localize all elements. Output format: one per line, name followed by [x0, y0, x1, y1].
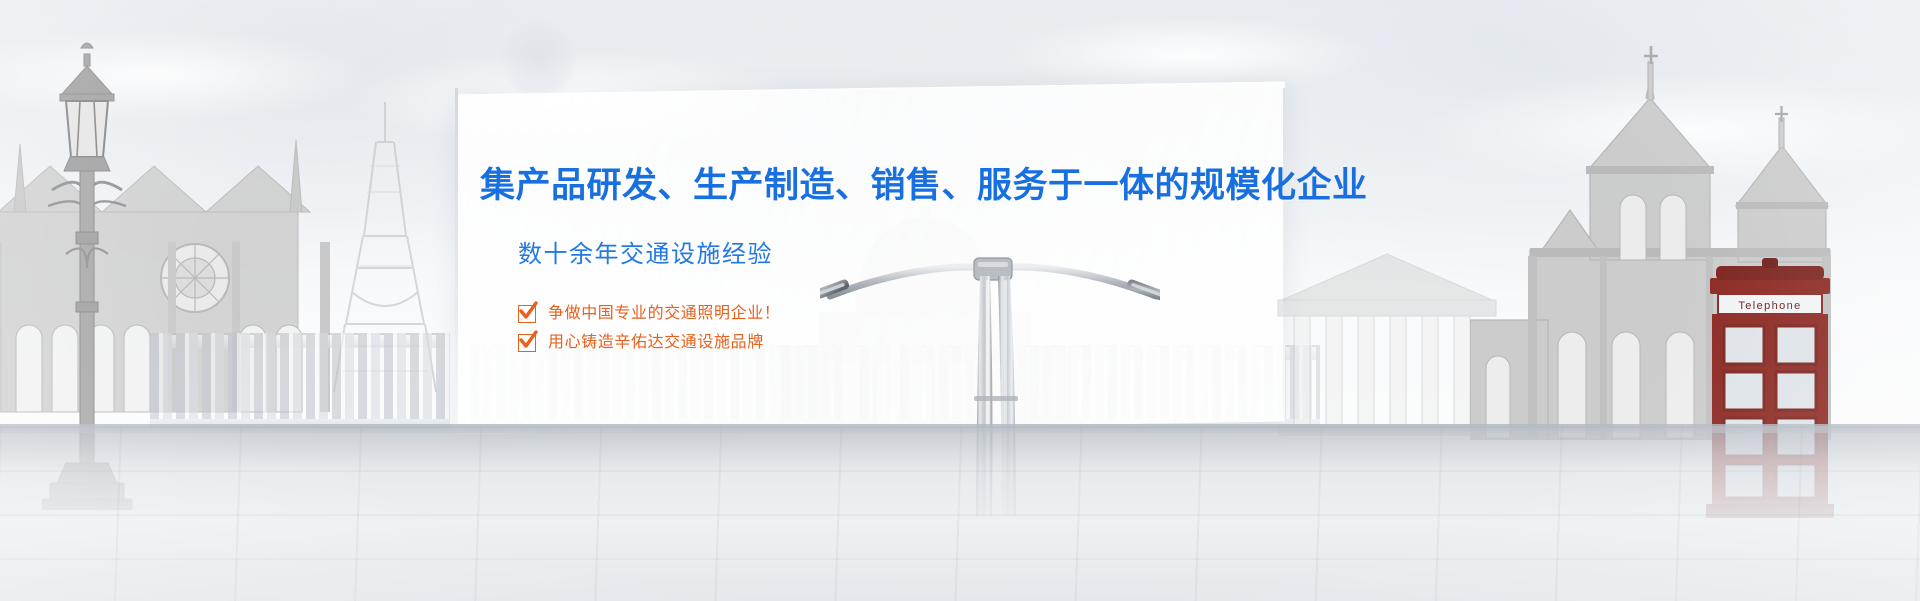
banner-copy: 集产品研发、生产制造、销售、服务于一体的规模化企业 数十余年交通设施经验 争做中… — [480, 165, 1180, 368]
colonnade-left — [150, 333, 450, 429]
feature-text: 用心铸造辛佑达交通设施品牌 — [548, 335, 764, 351]
orange-checkbox-check-icon — [518, 305, 536, 323]
orange-checkbox-check-icon — [518, 334, 536, 352]
list-item: 争做中国专业的交通照明企业！ — [518, 305, 1180, 323]
feature-text: 争做中国专业的交通照明企业！ — [548, 306, 780, 322]
hero-banner: Telephone — [0, 0, 1920, 601]
telephone-box-label: Telephone — [1738, 300, 1801, 312]
panel-left-edge — [455, 88, 458, 428]
sun-flare-icon — [500, 20, 578, 98]
list-item: 用心铸造辛佑达交通设施品牌 — [518, 334, 1180, 352]
feature-list: 争做中国专业的交通照明企业！ 用心铸造辛佑达交通设施品牌 — [518, 305, 1180, 352]
banner-headline: 集产品研发、生产制造、销售、服务于一体的规模化企业 — [480, 165, 1180, 208]
neoclassical-temple — [1272, 238, 1502, 438]
plaza-ground — [0, 426, 1920, 601]
banner-subline: 数十余年交通设施经验 — [518, 234, 1180, 269]
